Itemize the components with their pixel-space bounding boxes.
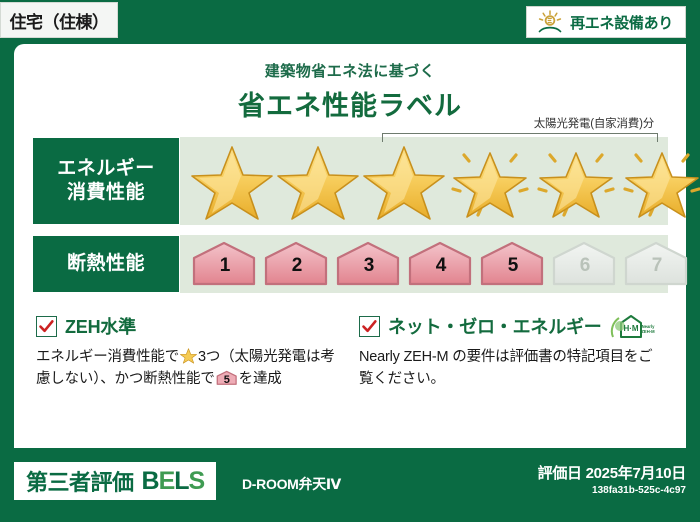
bels-wordmark: BELS <box>142 469 205 494</box>
building-type-tag: 住宅（住棟） <box>0 2 118 38</box>
title-subtitle: 建築物省エネ法に基づく <box>14 60 686 81</box>
bels-certification-mark: 第三者評価 BELS <box>14 462 216 500</box>
footer: 第三者評価 BELS D-ROOM弁天Ⅳ 評価日 2025年7月10日 138f… <box>0 448 700 522</box>
inline-house-icon: 5 <box>216 369 238 387</box>
zeh-m-logo-icon: H·M Nearly ZEH-M <box>610 313 656 339</box>
inline-star-icon <box>180 347 197 364</box>
building-type-tag-label: 住宅（住棟） <box>10 8 109 33</box>
insulation-row-label: 断熱性能 <box>32 235 180 293</box>
renewable-equipment-badge: 再エネ設備あり <box>526 6 686 38</box>
project-name: D-ROOM弁天Ⅳ <box>242 474 341 494</box>
solar-generation-note: 太陽光発電(自家消費)分 <box>534 115 654 131</box>
note-zeh-body-part1: エネルギー消費性能で <box>36 349 179 365</box>
title-block: 建築物省エネ法に基づく 省エネ性能ラベル <box>14 44 686 123</box>
note-net-zero-header: ネット・ゼロ・エネルギー H·M Nearly ZEH-M <box>359 313 664 339</box>
insulation-level-scale: 1 2 3 4 <box>180 235 668 293</box>
bels-letter-e: E <box>159 467 175 495</box>
star-4 <box>448 141 532 221</box>
star-5 <box>534 141 618 221</box>
star-6 <box>620 141 700 221</box>
note-zeh-standard-header: ZEH水準 <box>36 313 341 339</box>
check-icon <box>38 318 55 335</box>
label-card: 建築物省エネ法に基づく 省エネ性能ラベル エネルギー 消費性能 太陽光発電(自家… <box>14 44 686 448</box>
energy-performance-row: エネルギー 消費性能 太陽光発電(自家消費)分 <box>32 137 668 225</box>
insulation-level-3: 3 <box>334 240 404 288</box>
bels-letter-b: B <box>142 467 159 495</box>
notes-section: ZEH水準 エネルギー消費性能で3つ（太陽光発電は考慮しない）、かつ断熱性能で5… <box>36 313 664 391</box>
bels-letter-l: L <box>174 467 188 495</box>
insulation-level-1: 1 <box>190 240 260 288</box>
note-zeh-standard: ZEH水準 エネルギー消費性能で3つ（太陽光発電は考慮しない）、かつ断熱性能で5… <box>36 313 341 391</box>
star-2 <box>276 141 360 221</box>
insulation-level-3-value: 3 <box>334 255 404 277</box>
bels-jp-label: 第三者評価 <box>26 465 134 497</box>
evaluation-id: 138fa31b-525c-4c97 <box>538 485 686 496</box>
note-zeh-body-part3: を達成 <box>239 371 282 387</box>
note-zeh-standard-body: エネルギー消費性能で3つ（太陽光発電は考慮しない）、かつ断熱性能で5を達成 <box>36 346 341 391</box>
insulation-row-label-line1: 断熱性能 <box>67 253 145 275</box>
insulation-level-4: 4 <box>406 240 476 288</box>
star-rating <box>180 137 668 225</box>
energy-row-body: 太陽光発電(自家消費)分 <box>180 137 668 225</box>
inline-house-value: 5 <box>216 372 238 389</box>
check-icon <box>361 318 378 335</box>
energy-performance-label: 住宅（住棟） 再エネ設備あり 建築物省エネ法に基づく 省エネ性能ラベ <box>0 0 700 522</box>
evaluation-date: 評価日 2025年7月10日 <box>538 462 686 483</box>
insulation-level-6-value: 6 <box>550 255 620 277</box>
insulation-level-6: 6 <box>550 240 620 288</box>
note-net-zero-energy: ネット・ゼロ・エネルギー H·M Nearly ZEH-M Nearly ZEH… <box>359 313 664 391</box>
energy-row-label: エネルギー 消費性能 <box>32 137 180 225</box>
energy-row-label-line2: 消費性能 <box>67 182 145 204</box>
insulation-performance-row: 断熱性能 1 2 <box>32 235 668 293</box>
insulation-level-2: 2 <box>262 240 332 288</box>
svg-text:H·M: H·M <box>623 324 638 333</box>
insulation-level-7-value: 7 <box>622 255 692 277</box>
insulation-level-7: 7 <box>622 240 692 288</box>
renewable-badge-label: 再エネ設備あり <box>570 12 673 33</box>
sun-icon <box>537 10 563 34</box>
note-net-zero-title: ネット・ゼロ・エネルギー <box>388 313 602 339</box>
insulation-level-4-value: 4 <box>406 255 476 277</box>
rating-rows: エネルギー 消費性能 太陽光発電(自家消費)分 <box>32 137 668 293</box>
insulation-level-2-value: 2 <box>262 255 332 277</box>
evaluation-info: 評価日 2025年7月10日 138fa31b-525c-4c97 <box>538 462 686 496</box>
energy-row-label-line1: エネルギー <box>57 158 155 180</box>
checkbox-net-zero-energy <box>359 316 380 337</box>
insulation-row-body: 1 2 3 4 <box>180 235 668 293</box>
insulation-level-5-value: 5 <box>478 255 548 277</box>
insulation-level-1-value: 1 <box>190 255 260 277</box>
bels-letter-s: S <box>189 467 205 495</box>
checkbox-zeh-standard <box>36 316 57 337</box>
star-1 <box>190 141 274 221</box>
star-3 <box>362 141 446 221</box>
insulation-level-5: 5 <box>478 240 548 288</box>
note-zeh-standard-title: ZEH水準 <box>65 313 136 339</box>
note-net-zero-body: Nearly ZEH-M の要件は評価書の特記項目をご覧ください。 <box>359 346 664 391</box>
svg-text:ZEH-M: ZEH-M <box>641 329 655 334</box>
